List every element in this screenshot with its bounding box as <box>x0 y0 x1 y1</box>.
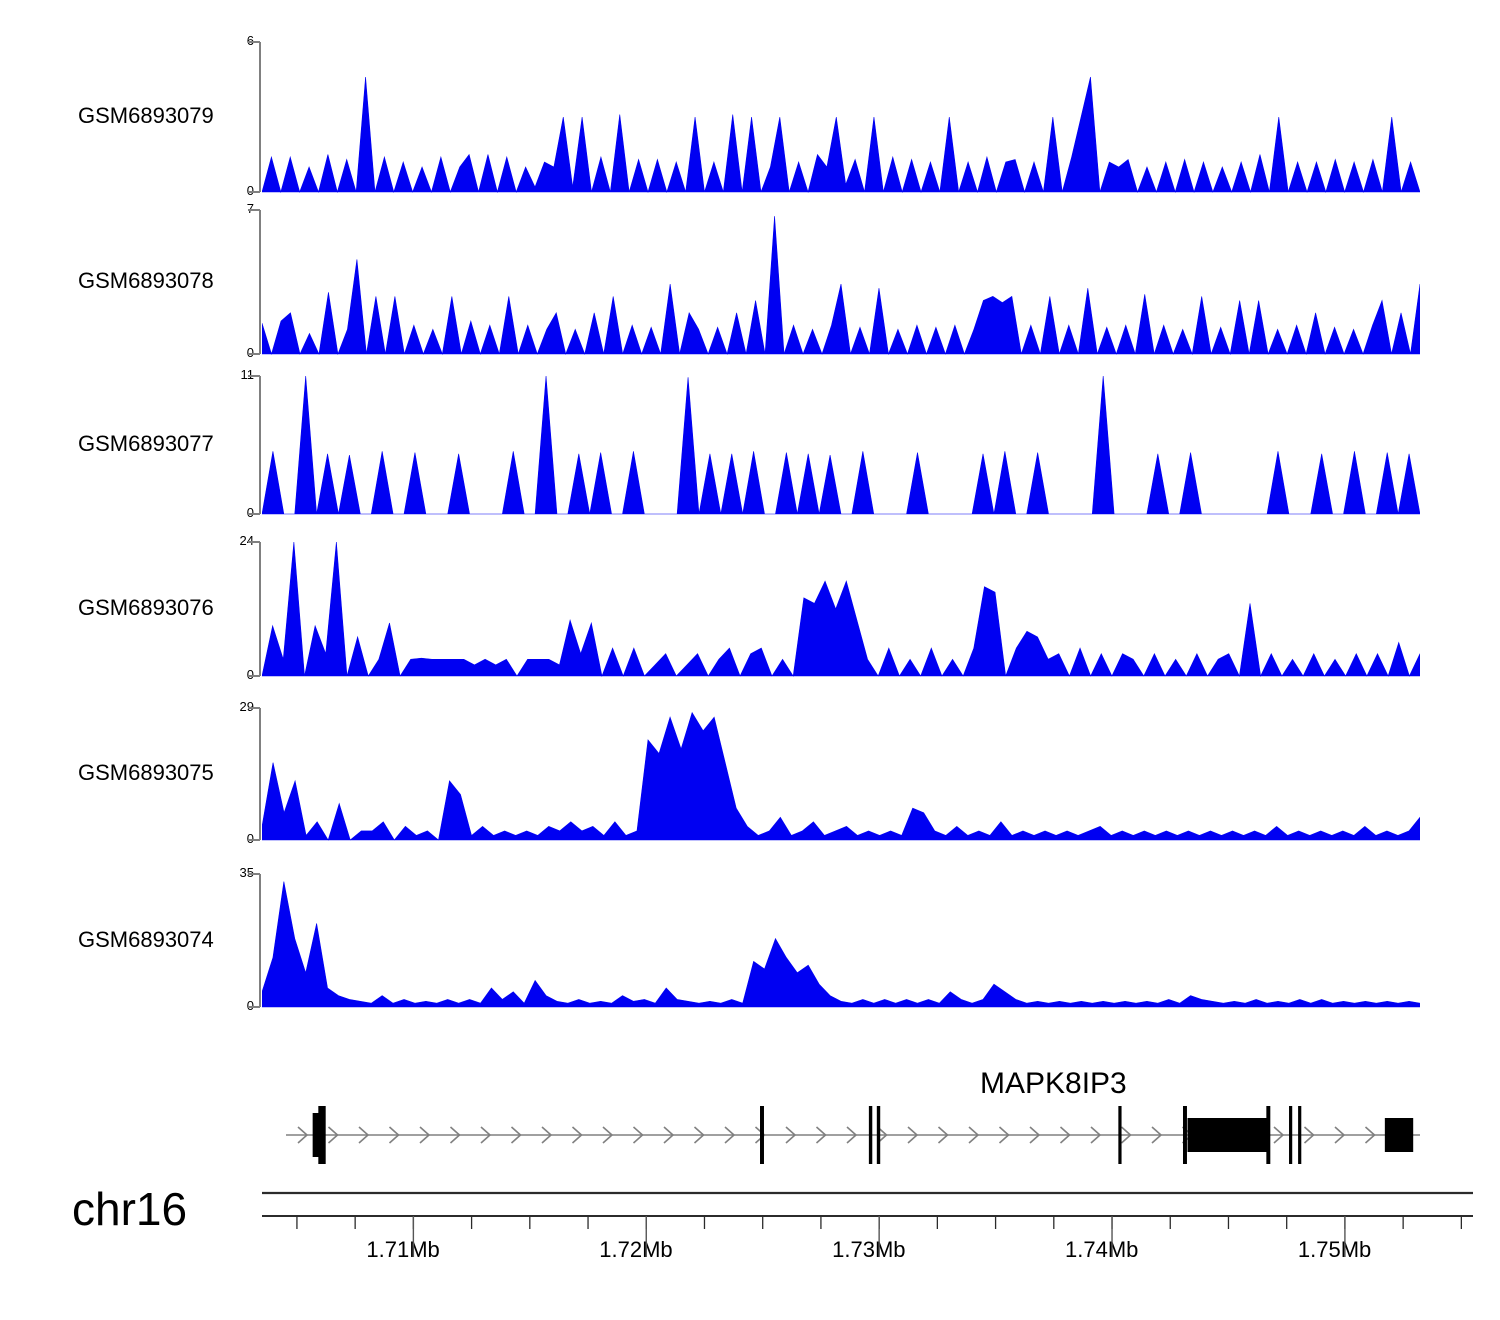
coverage-area <box>262 210 1420 355</box>
gene-annotation-track: MAPK8IP3 <box>0 1060 1500 1190</box>
ruler-svg <box>0 1185 1500 1295</box>
track-label: GSM6893075 <box>78 760 214 786</box>
track-label: GSM6893078 <box>78 268 214 294</box>
track-label: GSM6893077 <box>78 431 214 457</box>
coverage-area <box>262 376 1420 515</box>
track-label: GSM6893079 <box>78 103 214 129</box>
coverage-area <box>262 874 1420 1008</box>
coverage-area <box>262 542 1420 677</box>
track-label: GSM6893074 <box>78 927 214 953</box>
genome-browser-plot: GSM689307960GSM689307870GSM6893077110GSM… <box>0 0 1500 1320</box>
coverage-area <box>262 42 1420 193</box>
gene-model-svg <box>0 1060 1500 1190</box>
track-label: GSM6893076 <box>78 595 214 621</box>
genomic-coordinate-ruler: 1.71Mb1.72Mb1.73Mb1.74Mb1.75Mb <box>0 1185 1500 1295</box>
coverage-area <box>262 708 1420 841</box>
